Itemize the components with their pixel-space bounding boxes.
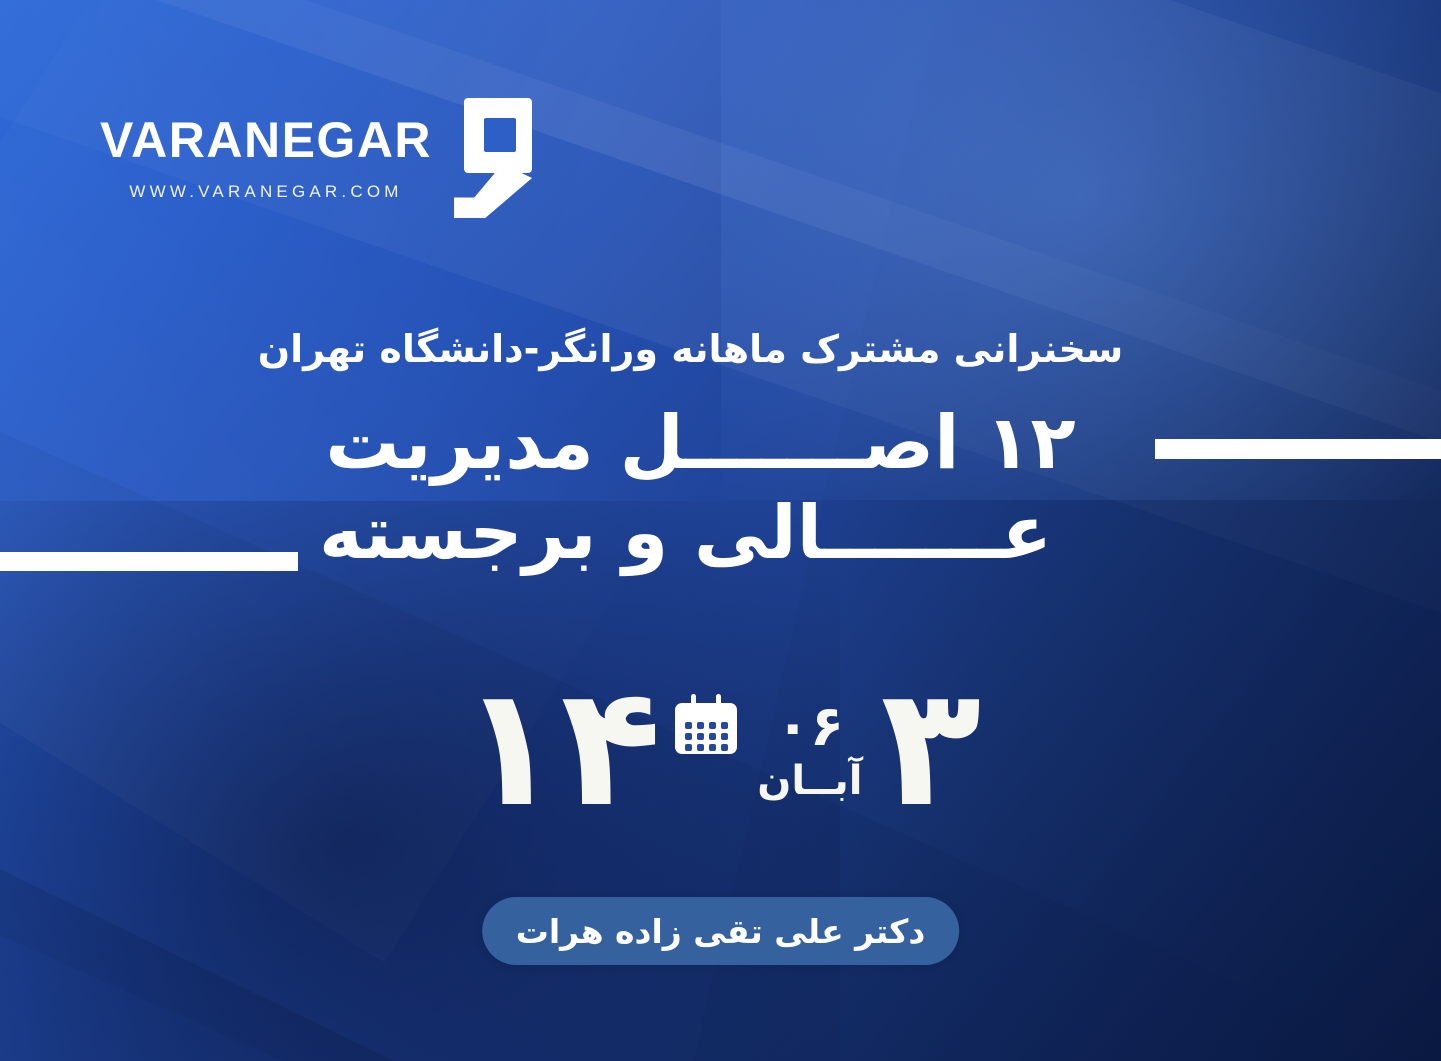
event-title-line-1: ۱۲ اصـــــــل مدیریت — [0, 398, 1441, 488]
varanegar-logo-icon — [454, 98, 532, 218]
calendar-grid — [684, 722, 728, 751]
brand-logo[interactable]: VARANEGAR WWW.VARANEGAR.COM — [100, 98, 532, 218]
event-date-month-name: آبــان — [757, 759, 862, 803]
brand-logo-text: VARANEGAR WWW.VARANEGAR.COM — [100, 115, 432, 202]
event-date-month: ۰۶ آبــان — [757, 693, 862, 803]
event-subtitle: سخنرانی مشترک ماهانه ورانگر-دانشگاه تهرا… — [0, 326, 1441, 374]
event-title-line-2: عـــــــالی و برجسته — [0, 488, 1441, 578]
event-date-year: ۱۴ — [460, 672, 661, 824]
event-date-day: ۳ — [880, 672, 981, 824]
brand-website-url: WWW.VARANEGAR.COM — [129, 182, 402, 202]
event-date-month-number: ۰۶ — [776, 699, 844, 755]
brand-name: VARANEGAR — [100, 115, 432, 165]
event-title: ۱۲ اصـــــــل مدیریت عـــــــالی و برجست… — [0, 398, 1441, 579]
logo-inner-square — [484, 118, 516, 152]
speaker-badge[interactable]: دکتر علی تقی زاده هرات — [482, 897, 960, 965]
event-poster: VARANEGAR WWW.VARANEGAR.COM سخنرانی مشتر… — [0, 0, 1441, 1061]
calendar-icon — [675, 694, 737, 754]
event-date-block: ۳ ۰۶ آبــان ۱۴ — [0, 672, 1441, 824]
